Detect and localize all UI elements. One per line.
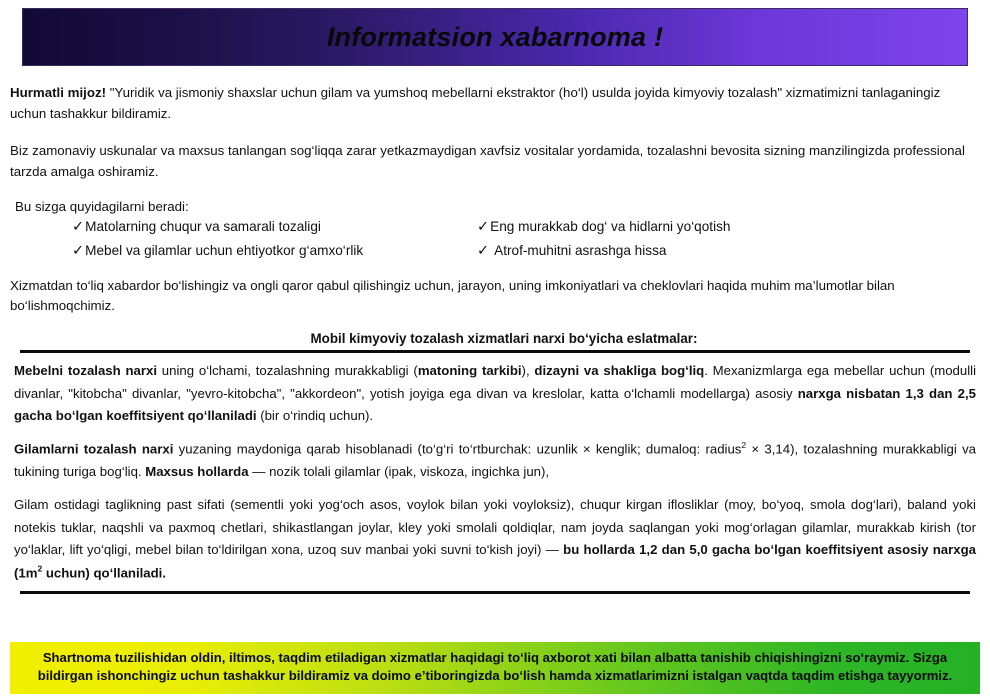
pricing-carpets-t1: yuzaning maydoniga qarab hisoblanadi (to… — [173, 442, 741, 457]
page-title: Informatsion xabarnoma ! — [327, 22, 663, 53]
benefits-list: ✓ Matolarning chuqur va samarali tozalig… — [10, 216, 980, 262]
document-body: Hurmatli mijoz! "Yuridik va jismoniy sha… — [0, 66, 990, 636]
pricing-carpets-lead: Gilamlarni tozalash narxi — [14, 442, 173, 457]
pricing-carpets-t3: — nozik tolali gilamlar (ipak, viskoza, … — [249, 464, 550, 479]
intro-greeting-rest: "Yuridik va jismoniy shaxslar uchun gila… — [10, 85, 940, 121]
pricing-conditions-paragraph: Gilam ostidagi taglikning past sifati (s… — [14, 494, 976, 585]
document-page: Informatsion xabarnoma ! Hurmatli mijoz!… — [0, 0, 990, 700]
pricing-notes: Mebelni tozalash narxi uning o‘lchami, t… — [10, 360, 980, 585]
intro-greeting-bold: Hurmatli mijoz! — [10, 85, 106, 100]
intro-paragraph-1: Hurmatli mijoz! "Yuridik va jismoniy sha… — [10, 83, 980, 124]
pricing-carpets-b1: Maxsus hollarda — [145, 464, 248, 479]
header-banner: Informatsion xabarnoma ! — [22, 8, 968, 66]
pricing-furniture-t4: (bir o‘rindiq uchun). — [257, 408, 374, 423]
benefit-item: ✓ Mebel va gilamlar uchun ehtiyotkor g‘a… — [72, 240, 477, 263]
benefits-column-right: ✓ Eng murakkab dog‘ va hidlarni yo‘qotis… — [477, 216, 730, 262]
check-icon: ✓ — [477, 216, 489, 239]
pricing-furniture-t2: ), — [522, 363, 535, 378]
footer-notice: Shartnoma tuzilishidan oldin, iltimos, t… — [10, 642, 980, 694]
check-icon: ✓ — [72, 240, 84, 263]
benefit-label: Mebel va gilamlar uchun ehtiyotkor g‘amx… — [85, 240, 363, 262]
benefit-item: ✓ Atrof-muhitni asrashga hissa — [477, 240, 730, 263]
section-heading: Mobil kimyoviy tozalash xizmatlari narxi… — [10, 331, 980, 346]
intro-paragraph-2: Biz zamonaviy uskunalar va maxsus tanlan… — [10, 141, 980, 182]
pricing-furniture-b1: matoning tarkibi — [418, 363, 522, 378]
check-icon: ✓ — [72, 216, 84, 239]
transparency-paragraph: Xizmatdan to‘liq xabardor bo‘lishingiz v… — [10, 276, 980, 317]
check-icon: ✓ — [477, 240, 489, 263]
benefits-intro: Bu sizga quyidagilarni beradi: — [15, 199, 980, 214]
pricing-conditions-b2: uchun) qo‘llaniladi. — [42, 565, 166, 580]
pricing-carpets-paragraph: Gilamlarni tozalash narxi yuzaning maydo… — [14, 438, 976, 484]
pricing-furniture-paragraph: Mebelni tozalash narxi uning o‘lchami, t… — [14, 360, 976, 428]
footer-notice-text: Shartnoma tuzilishidan oldin, iltimos, t… — [36, 649, 954, 686]
benefit-label: Atrof-muhitni asrashga hissa — [494, 240, 666, 262]
benefit-item: ✓ Matolarning chuqur va samarali tozalig… — [72, 216, 477, 239]
pricing-furniture-b2: dizayni va shakliga bog‘liq — [534, 363, 704, 378]
pricing-furniture-lead: Mebelni tozalash narxi — [14, 363, 157, 378]
benefit-item: ✓ Eng murakkab dog‘ va hidlarni yo‘qotis… — [477, 216, 730, 239]
benefits-column-left: ✓ Matolarning chuqur va samarali tozalig… — [10, 216, 477, 262]
divider-bottom — [20, 591, 970, 594]
benefit-label: Matolarning chuqur va samarali tozaligi — [85, 216, 321, 238]
benefit-label: Eng murakkab dog‘ va hidlarni yo‘qotish — [490, 216, 730, 238]
pricing-furniture-t1: uning o‘lchami, tozalashning murakkablig… — [157, 363, 418, 378]
